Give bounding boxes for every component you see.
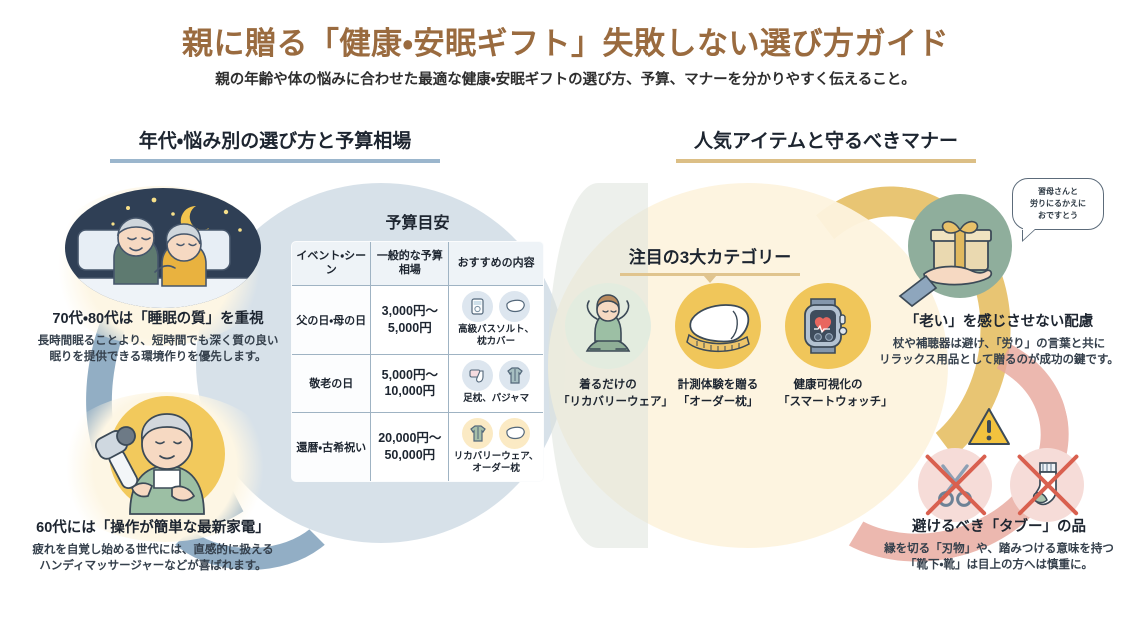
pillow-cover-icon [499, 291, 530, 322]
taboo-icons-row [903, 448, 1099, 522]
budget-col-price: 一般的な予算相場 [371, 242, 449, 286]
budget-row-1-items: 足枕、パジャマ [449, 355, 544, 412]
category-2-label-line2: 「スマートウォッチ」 [778, 394, 878, 411]
budget-row-0-event: 父の日・母の日 [292, 285, 371, 355]
foot-pillow-icon [462, 360, 493, 391]
budget-row-2-price-line1: 20,000円〜 [373, 430, 446, 447]
sleeping-elderly-couple-illustration [58, 186, 268, 311]
budget-row-1-icons [452, 360, 540, 391]
category-0-label-line2: 「リカバリーウェア」 [558, 394, 658, 411]
budget-row-1-items-line1: 足枕、パジャマ [452, 393, 540, 405]
category-1-label-line1: 計測体験を贈る [668, 377, 768, 394]
budget-row-2-price-line2: 50,000円 [373, 447, 446, 464]
consideration-body-line2: リラックス用品として贈るのが成功の鍵です。 [868, 352, 1130, 369]
budget-col-event: イベント・シーン [292, 242, 371, 286]
bubble-line-3: おですとう [1019, 210, 1097, 222]
budget-row-0-icons [452, 291, 540, 322]
category-recovery-wear: 着るだけの 「リカバリーウェア」 [558, 283, 658, 410]
taboo-title: 避けるべき「タブー」の品 [868, 518, 1130, 538]
category-order-pillow: 計測体験を贈る 「オーダー枕」 [668, 283, 768, 410]
budget-col-items: おすすめの内容 [449, 242, 544, 286]
elderly-massager-illustration [72, 392, 257, 517]
budget-row-2-items-line1: リカバリーウェア、 [452, 451, 540, 463]
left-point-1-caption: 70代・80代は「睡眠の質」を重視 長時間眠ることより、短時間でも深く質の良い … [18, 310, 298, 366]
left-point-1-title: 70代・80代は「睡眠の質」を重視 [18, 310, 298, 330]
budget-table-block: 予算目安 イベント・シーン 一般的な予算相場 おすすめの内容 父の日・母の日 3… [291, 209, 544, 482]
person-stretching-icon [565, 283, 651, 369]
taboo-body-line1: 縁を切る「刃物」や、踏みつける意味を持つ [868, 541, 1130, 558]
sock-icon [1010, 448, 1084, 522]
gift-speech-bubble: 習母さんと 労りにるかえに おですとう [1012, 178, 1104, 230]
budget-row-0-items: 高級バスソルト、 枕カバー [449, 285, 544, 355]
left-point-2-caption: 60代には「操作が簡単な最新家電」 疲れを自覚し始める世代には、直感的に扱える … [8, 519, 298, 575]
page-subtitle: 親の年齢や体の悩みに合わせた最適な健康・安眠ギフトの選び方、予算、マナーを分かり… [0, 68, 1131, 89]
category-2-label-line1: 健康可視化の [778, 377, 878, 394]
left-point-1-body-line2: 眠りを提供できる環境作りを優先します。 [18, 349, 298, 366]
budget-row-0-items-line1: 高級バスソルト、 [452, 324, 540, 336]
left-point-2-body-line1: 疲れを自覚し始める世代には、直感的に扱える [8, 542, 298, 559]
infographic-canvas: 親に贈る「健康・安眠ギフト」失敗しない選び方ガイド 親の年齢や体の悩みに合わせた… [0, 0, 1131, 623]
budget-row-1-price-line1: 5,000円〜 [373, 367, 446, 384]
budget-row-2-icons [452, 418, 540, 449]
budget-table-title: 予算目安 [291, 209, 544, 233]
warning-triangle-icon [966, 406, 1012, 453]
section-heading-left: 年代・悩み別の選び方と予算相場 [110, 126, 440, 163]
budget-row-0-price-line2: 5,000円 [373, 320, 446, 337]
category-0-label-line1: 着るだけの [558, 377, 658, 394]
budget-table-header-row: イベント・シーン 一般的な予算相場 おすすめの内容 [292, 242, 544, 286]
categories-heading: 注目の3大カテゴリー [620, 243, 800, 276]
order-pillow-icon [499, 418, 530, 449]
budget-row-0-items-line2: 枕カバー [452, 336, 540, 348]
left-point-2-body-line2: ハンディマッサージャーなどが喜ばれます。 [8, 558, 298, 575]
consideration-caption: 「老い」を感じさせない配慮 杖や補聴器は避け、「労り」の言葉と共に リラックス用… [868, 313, 1130, 369]
section-heading-right: 人気アイテムと守るべきマナー [676, 126, 976, 163]
budget-row-1-event: 敬老の日 [292, 355, 371, 412]
left-point-2-title: 60代には「操作が簡単な最新家電」 [8, 519, 298, 539]
smartwatch-heart-icon [785, 283, 871, 369]
budget-row-2-items: リカバリーウェア、 オーダー枕 [449, 412, 544, 482]
categories-row: 着るだけの 「リカバリーウェア」 計測体験を贈る 「オーダー枕」 [558, 283, 878, 410]
budget-row-2-price: 20,000円〜 50,000円 [371, 412, 449, 482]
category-smartwatch: 健康可視化の 「スマートウォッチ」 [778, 283, 878, 410]
taboo-caption: 避けるべき「タブー」の品 縁を切る「刃物」や、踏みつける意味を持つ 「靴下・靴」… [868, 518, 1130, 574]
pajama-icon [499, 360, 530, 391]
scissors-icon [918, 448, 992, 522]
bubble-line-1: 習母さんと [1019, 186, 1097, 198]
budget-row-0-price-line1: 3,000円〜 [373, 303, 446, 320]
category-1-label-line2: 「オーダー枕」 [668, 394, 768, 411]
table-row: 還暦・古希祝い 20,000円〜 50,000円 [292, 412, 544, 482]
budget-row-1-price: 5,000円〜 10,000円 [371, 355, 449, 412]
consideration-title: 「老い」を感じさせない配慮 [868, 313, 1130, 333]
budget-row-0-price: 3,000円〜 5,000円 [371, 285, 449, 355]
budget-row-1-price-line2: 10,000円 [373, 383, 446, 400]
recovery-wear-icon [462, 418, 493, 449]
table-row: 父の日・母の日 3,000円〜 5,000円 [292, 285, 544, 355]
budget-table: イベント・シーン 一般的な予算相場 おすすめの内容 父の日・母の日 3,000円… [291, 241, 544, 482]
page-title: 親に贈る「健康・安眠ギフト」失敗しない選び方ガイド [0, 18, 1131, 63]
consideration-body-line1: 杖や補聴器は避け、「労り」の言葉と共に [868, 336, 1130, 353]
left-point-1-body-line1: 長時間眠ることより、短時間でも深く質の良い [18, 333, 298, 350]
taboo-body-line2: 「靴下・靴」は目上の方へは慎重に。 [868, 557, 1130, 574]
pillow-measuring-tape-icon [675, 283, 761, 369]
table-row: 敬老の日 5,000円〜 10,000円 [292, 355, 544, 412]
budget-row-2-items-line2: オーダー枕 [452, 463, 540, 475]
bath-salt-icon [462, 291, 493, 322]
budget-row-2-event: 還暦・古希祝い [292, 412, 371, 482]
bubble-line-2: 労りにるかえに [1019, 198, 1097, 210]
